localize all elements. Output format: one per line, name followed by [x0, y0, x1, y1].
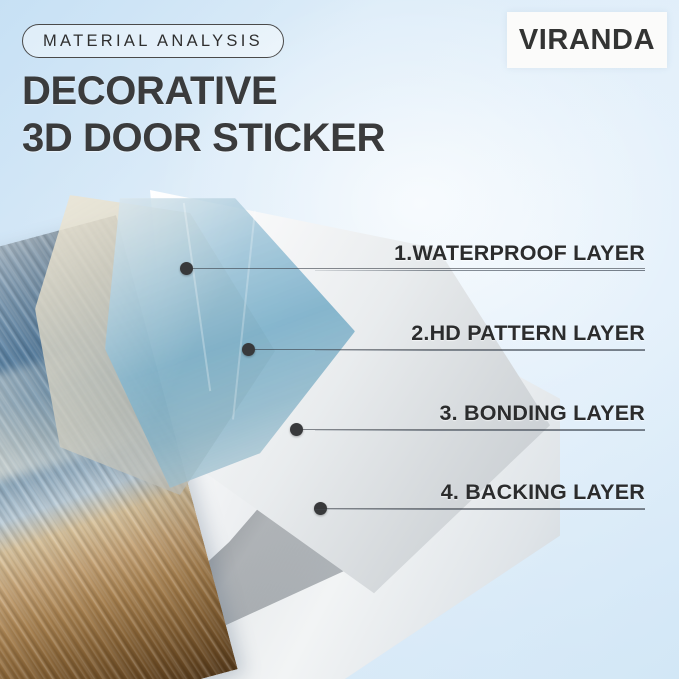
- brand-logo: VIRANDA: [507, 12, 667, 68]
- page-title: DECORATIVE 3D DOOR STICKER: [22, 68, 492, 162]
- layer-marker-dot-1: [180, 262, 193, 275]
- layer-label-1-underline: [315, 270, 645, 271]
- layer-marker-dot-3: [290, 423, 303, 436]
- layer-label-1: 1.WATERPROOF LAYER: [315, 241, 645, 271]
- layer-marker-dot-2: [242, 343, 255, 356]
- badge-label: MATERIAL ANALYSIS: [43, 32, 263, 51]
- layer-label-3-text: 3. BONDING LAYER: [315, 401, 645, 426]
- layer-label-1-text: 1.WATERPROOF LAYER: [315, 241, 645, 266]
- layer-label-4-text: 4. BACKING LAYER: [315, 480, 645, 505]
- material-analysis-infographic: MATERIAL ANALYSIS DECORATIVE 3D DOOR STI…: [0, 0, 679, 679]
- layer-label-3: 3. BONDING LAYER: [315, 401, 645, 431]
- layer-label-2-text: 2.HD PATTERN LAYER: [315, 321, 645, 346]
- title-line-1: DECORATIVE: [22, 68, 492, 115]
- layer-label-2-underline: [315, 350, 645, 351]
- layer-label-4: 4. BACKING LAYER: [315, 480, 645, 510]
- layer-label-4-underline: [315, 509, 645, 510]
- title-line-2: 3D DOOR STICKER: [22, 115, 492, 162]
- material-analysis-badge: MATERIAL ANALYSIS: [22, 24, 284, 58]
- layer-label-3-underline: [315, 430, 645, 431]
- layer-label-2: 2.HD PATTERN LAYER: [315, 321, 645, 351]
- brand-logo-text: VIRANDA: [519, 24, 655, 57]
